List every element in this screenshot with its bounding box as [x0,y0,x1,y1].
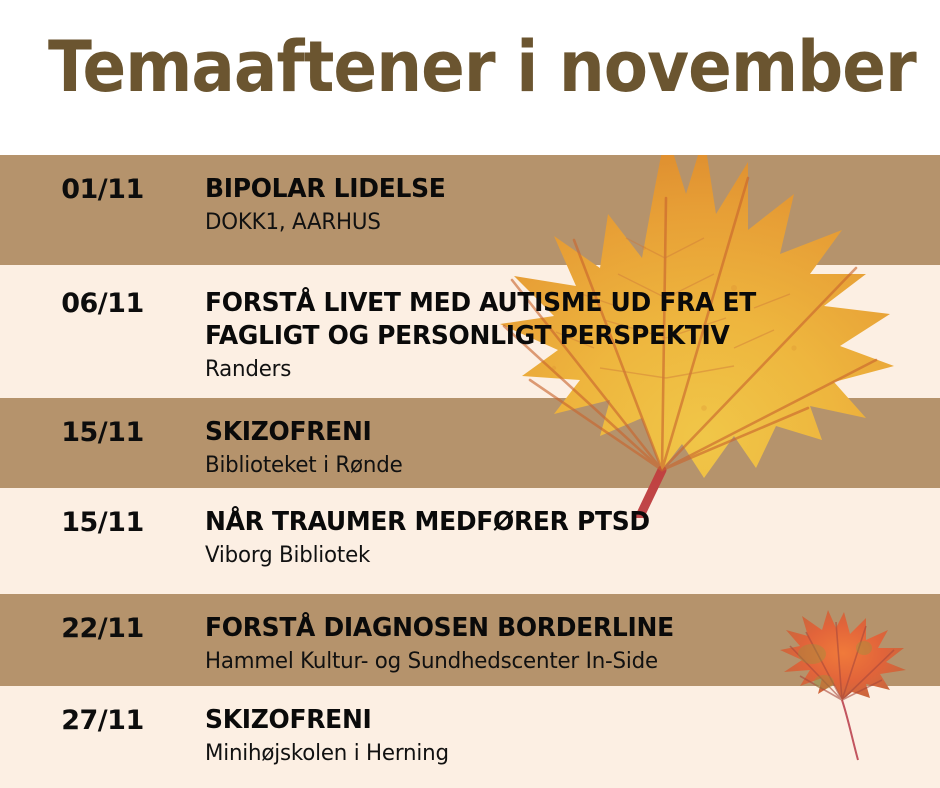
event-title: SKIZOFRENI [205,416,899,449]
event-date: 27/11 [0,704,205,737]
event-row: 06/11FORSTÅ LIVET MED AUTISME UD FRA ET … [0,287,940,385]
event-date: 01/11 [0,173,205,206]
event-venue: Randers [205,355,906,385]
event-row: 22/11FORSTÅ DIAGNOSEN BORDERLINEHammel K… [0,612,940,677]
event-row: 15/11SKIZOFRENIBiblioteket i Rønde [0,416,940,481]
event-details: SKIZOFRENIMinihøjskolen i Herning [205,704,940,769]
event-details: FORSTÅ LIVET MED AUTISME UD FRA ET FAGLI… [205,287,940,385]
event-venue: Hammel Kultur- og Sundhedscenter In-Side [205,647,906,677]
event-details: SKIZOFRENIBiblioteket i Rønde [205,416,940,481]
event-venue: Biblioteket i Rønde [205,451,906,481]
event-venue: DOKK1, AARHUS [205,208,906,238]
event-venue: Minihøjskolen i Herning [205,739,906,769]
event-title: BIPOLAR LIDELSE [205,173,899,206]
event-date: 15/11 [0,416,205,449]
event-list: 01/11BIPOLAR LIDELSEDOKK1, AARHUS06/11FO… [0,0,940,788]
event-details: FORSTÅ DIAGNOSEN BORDERLINEHammel Kultur… [205,612,940,677]
event-title: FORSTÅ LIVET MED AUTISME UD FRA ET FAGLI… [205,287,771,353]
event-title: SKIZOFRENI [205,704,899,737]
event-details: BIPOLAR LIDELSEDOKK1, AARHUS [205,173,940,238]
event-row: 27/11SKIZOFRENIMinihøjskolen i Herning [0,704,940,769]
event-title: NÅR TRAUMER MEDFØRER PTSD [205,506,899,539]
event-row: 15/11NÅR TRAUMER MEDFØRER PTSDViborg Bib… [0,506,940,571]
event-date: 15/11 [0,506,205,539]
event-venue: Viborg Bibliotek [205,541,906,571]
event-row: 01/11BIPOLAR LIDELSEDOKK1, AARHUS [0,173,940,238]
event-details: NÅR TRAUMER MEDFØRER PTSDViborg Bibliote… [205,506,940,571]
event-title: FORSTÅ DIAGNOSEN BORDERLINE [205,612,899,645]
event-date: 22/11 [0,612,205,645]
event-date: 06/11 [0,287,205,320]
poster-canvas: 01/11BIPOLAR LIDELSEDOKK1, AARHUS06/11FO… [0,0,940,788]
